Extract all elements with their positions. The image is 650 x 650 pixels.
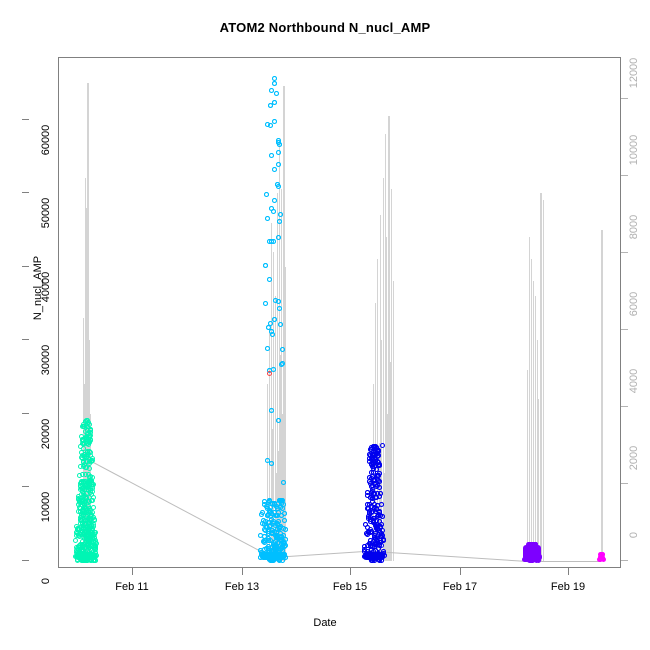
plot-panel [58, 57, 621, 568]
data-point [268, 123, 273, 128]
data-point [266, 544, 271, 549]
data-point [87, 466, 92, 471]
x-axis-tick [132, 568, 133, 575]
data-point [278, 212, 283, 217]
data-point [365, 525, 370, 530]
background-spike-line [285, 267, 286, 561]
data-point [267, 508, 272, 513]
cluster-base [260, 552, 286, 560]
data-point [81, 441, 86, 446]
background-spike-line [533, 281, 534, 561]
y-axis-right-tick-label: 6000 [628, 281, 640, 327]
y-axis-tick [22, 486, 29, 487]
data-point-outlier [267, 371, 272, 376]
background-spike-line [602, 230, 603, 561]
data-point [86, 499, 91, 504]
data-point [272, 81, 277, 86]
data-point [262, 522, 267, 527]
cluster-base [523, 545, 541, 560]
data-point [277, 306, 282, 311]
cluster-base [75, 552, 97, 560]
y-axis-right-tick-label: 12000 [628, 50, 640, 96]
data-point [369, 461, 374, 466]
y-axis-tick-label: 20000 [40, 411, 52, 457]
data-point [272, 100, 277, 105]
y-axis-right-tick-label: 8000 [628, 204, 640, 250]
x-axis-tick-label: Feb 19 [538, 581, 598, 593]
data-point [89, 544, 94, 549]
y-axis-right-tick [621, 252, 628, 253]
background-spike-line [527, 370, 528, 561]
data-point [376, 473, 381, 478]
data-point [259, 512, 264, 517]
y-axis-tick [22, 339, 29, 340]
x-axis-tick [460, 568, 461, 575]
y-axis-right-tick-label: 10000 [628, 127, 640, 173]
background-spike-line [535, 296, 536, 561]
data-point [370, 474, 375, 479]
data-point [276, 235, 281, 240]
data-point [272, 119, 277, 124]
data-point [281, 480, 286, 485]
data-point [370, 489, 375, 494]
data-point [269, 153, 274, 158]
background-spike-line [529, 237, 530, 561]
data-point [282, 518, 287, 523]
data-point [267, 520, 272, 525]
background-spike-line [541, 193, 542, 561]
background-spike-line [538, 399, 539, 561]
data-point [362, 544, 367, 549]
y-axis-right-tick [621, 175, 628, 176]
y-axis-tick-label: 40000 [40, 264, 52, 310]
y-axis-tick-label: 30000 [40, 337, 52, 383]
y-axis-right-tick [621, 406, 628, 407]
data-point [272, 529, 277, 534]
background-spike-line [393, 281, 394, 561]
y-axis-right-tick [621, 483, 628, 484]
x-axis-tick-label: Feb 13 [212, 581, 272, 593]
data-point [265, 216, 270, 221]
data-point [276, 418, 281, 423]
data-point [266, 325, 271, 330]
data-point [267, 239, 272, 244]
y-axis-tick-label: 10000 [40, 484, 52, 530]
y-axis-right-tick-label: 0 [628, 512, 640, 558]
y-axis-right-tick-label: 2000 [628, 435, 640, 481]
data-point [263, 263, 268, 268]
y-axis-tick-label: 0 [40, 558, 52, 604]
background-spike-line [387, 414, 388, 561]
background-spike-line [391, 189, 392, 561]
data-point [280, 347, 285, 352]
y-axis-tick [22, 560, 29, 561]
data-point [279, 498, 284, 503]
data-point [378, 538, 383, 543]
data-point [265, 513, 270, 518]
data-point [283, 527, 288, 532]
y-axis-right-tick-label: 4000 [628, 358, 640, 404]
data-point [272, 317, 277, 322]
x-axis-tick [568, 568, 569, 575]
x-axis-tick [242, 568, 243, 575]
y-axis-tick [22, 413, 29, 414]
y-axis-tick [22, 266, 29, 267]
cluster-base [363, 552, 385, 560]
series-layer [59, 58, 620, 567]
data-point [278, 322, 283, 327]
data-point [380, 514, 385, 519]
data-point [267, 277, 272, 282]
data-point [77, 534, 82, 539]
x-axis-tick [350, 568, 351, 575]
x-axis-tick-label: Feb 11 [102, 581, 162, 593]
data-point [368, 538, 373, 543]
data-point [276, 140, 281, 145]
background-spike-line [543, 200, 544, 561]
y-axis-tick [22, 192, 29, 193]
background-spike-line [531, 259, 532, 561]
data-point [264, 192, 269, 197]
data-point [80, 545, 85, 550]
data-point [276, 299, 281, 304]
data-point [263, 301, 268, 306]
x-axis-tick-label: Feb 15 [320, 581, 380, 593]
data-point [91, 524, 96, 529]
data-point [76, 497, 81, 502]
data-point [92, 536, 97, 541]
plot-root: ATOM2 Northbound N_nucl_AMP N_nucl_AMP D… [0, 0, 650, 650]
y-axis-right-tick [621, 98, 628, 99]
data-point [275, 182, 280, 187]
y-axis-tick-label: 50000 [40, 190, 52, 236]
x-axis-title: Date [0, 617, 650, 629]
data-point [272, 167, 277, 172]
connector-line [532, 561, 601, 562]
background-spike-line [390, 362, 391, 561]
data-point [368, 495, 373, 500]
data-point [91, 505, 96, 510]
y-axis-tick [22, 119, 29, 120]
connector-line [374, 551, 532, 562]
x-axis-tick-label: Feb 17 [430, 581, 490, 593]
y-axis-right-tick [621, 329, 628, 330]
data-point [373, 509, 378, 514]
data-point [283, 537, 288, 542]
data-point [368, 530, 373, 535]
data-point-outlier [380, 443, 385, 448]
data-point [269, 206, 274, 211]
data-point [87, 510, 92, 515]
data-point [276, 162, 281, 167]
connector-line [273, 551, 374, 559]
y-axis-tick-label: 60000 [40, 117, 52, 163]
connector-line [86, 458, 273, 558]
page-title: ATOM2 Northbound N_nucl_AMP [0, 20, 650, 35]
y-axis-right-tick [621, 560, 628, 561]
data-point [274, 91, 279, 96]
data-point [276, 150, 281, 155]
